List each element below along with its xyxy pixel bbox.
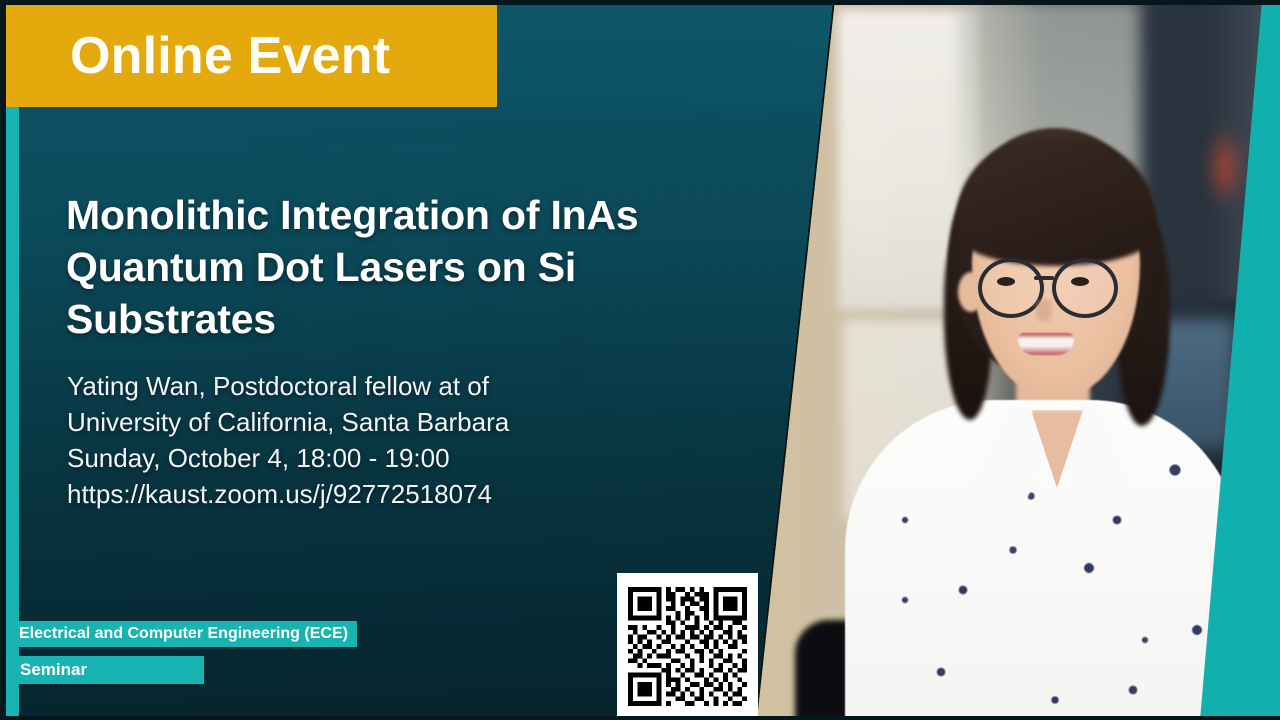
eye-left xyxy=(997,277,1015,286)
badge-event-type-label: Seminar xyxy=(20,660,87,680)
badge-event-type: Seminar xyxy=(6,656,204,684)
zoom-link[interactable]: https://kaust.zoom.us/j/92772518074 xyxy=(67,476,767,512)
eyeglass-lens-left xyxy=(978,258,1044,318)
page-title: Monolithic Integration of InAs Quantum D… xyxy=(66,189,746,345)
online-event-label: Online Event xyxy=(70,26,390,86)
eye-right xyxy=(1071,277,1089,286)
speaker-name-line: Yating Wan, Postdoctoral fellow at of xyxy=(67,368,767,404)
event-datetime: Sunday, October 4, 18:00 - 19:00 xyxy=(67,440,767,476)
online-event-banner: Online Event xyxy=(6,5,497,107)
badge-department-label: Electrical and Computer Engineering (ECE… xyxy=(19,625,348,643)
mouth xyxy=(1018,333,1074,355)
speaker-affiliation-line: University of California, Santa Barbara xyxy=(67,404,767,440)
eyeglass-bridge xyxy=(1034,276,1054,280)
event-details: Yating Wan, Postdoctoral fellow at of Un… xyxy=(67,368,767,512)
badge-department: Electrical and Computer Engineering (ECE… xyxy=(10,621,357,647)
eyeglass-lens-right xyxy=(1052,258,1118,318)
bottom-border xyxy=(0,716,1280,720)
qr-code-icon xyxy=(628,587,747,706)
event-poster: Online Event Monolithic Integration of I… xyxy=(0,0,1280,720)
nose xyxy=(1036,300,1052,322)
qr-code[interactable] xyxy=(617,573,758,720)
top-border xyxy=(0,0,1280,5)
